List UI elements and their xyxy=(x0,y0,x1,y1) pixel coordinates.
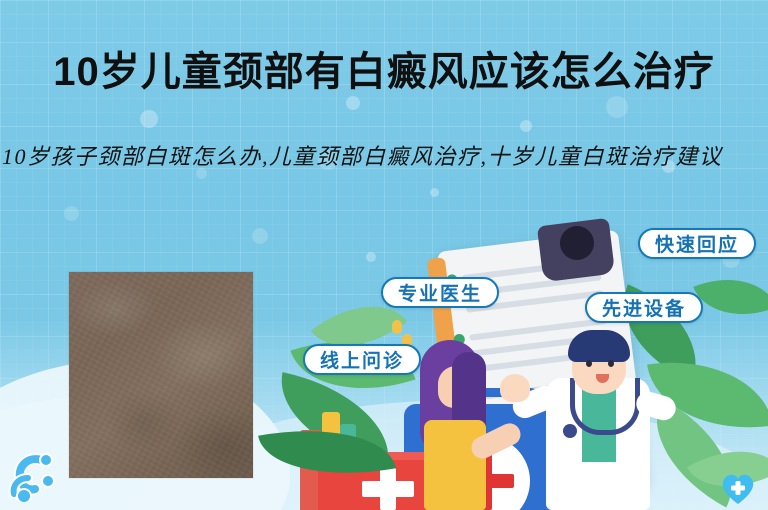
skin-lesion-photo xyxy=(69,272,253,478)
leaf-decoration xyxy=(693,261,768,334)
badge-online-consultation[interactable]: 线上问诊 xyxy=(303,344,421,375)
doctor-eye xyxy=(586,360,592,367)
page-subtitle: 10岁孩子颈部白斑怎么办,儿童颈部白癜风治疗,十岁儿童白斑治疗建议 xyxy=(2,140,750,174)
patient-dress xyxy=(424,420,486,510)
logo-mark-icon xyxy=(8,448,60,502)
skin-texture-overlay xyxy=(69,272,253,478)
heart-medical-cross-icon xyxy=(719,470,757,506)
poster-canvas: 10岁儿童颈部有白癜风应该怎么治疗 10岁孩子颈部白斑怎么办,儿童颈部白癜风治疗… xyxy=(0,0,768,510)
stethoscope-bell xyxy=(563,424,577,438)
badge-quick-response[interactable]: 快速回应 xyxy=(638,228,756,259)
badge-advanced-equipment[interactable]: 先进设备 xyxy=(585,292,703,323)
page-title: 10岁儿童颈部有白癜风应该怎么治疗 xyxy=(0,48,768,96)
badge-professional-doctor[interactable]: 专业医生 xyxy=(381,277,499,308)
doctor-hand-left xyxy=(500,374,530,402)
doctor-hair xyxy=(568,330,630,362)
doctor-eye xyxy=(608,360,614,367)
white-cross-icon xyxy=(362,481,414,497)
plant-bud xyxy=(392,320,402,334)
